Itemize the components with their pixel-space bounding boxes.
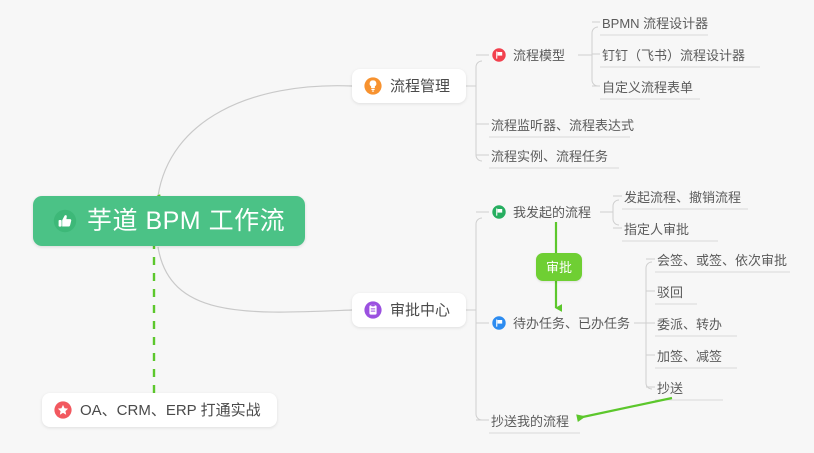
leaf-dingtalk-designer[interactable]: 钉钉（飞书）流程设计器 bbox=[602, 43, 749, 67]
leaf-label-custom-form: 自定义流程表单 bbox=[602, 81, 693, 94]
mindmap-canvas: 芋道 BPM 工作流 流程管理 流程模型 BPMN 流程设计器 钉钉（飞书）流程 bbox=[0, 0, 814, 453]
leaf-delegate-transfer[interactable]: 委派、转办 bbox=[657, 312, 726, 336]
leaf-instance-task[interactable]: 流程实例、流程任务 bbox=[491, 144, 612, 168]
node-todo-done-tasks[interactable]: 待办任务、已办任务 bbox=[492, 311, 634, 335]
leaf-label-assignee-approval: 指定人审批 bbox=[624, 223, 689, 236]
footer-node-label: OA、CRM、ERP 打通实战 bbox=[80, 403, 261, 418]
thumbs-up-icon bbox=[53, 209, 77, 233]
leaf-label-delegate-transfer: 委派、转办 bbox=[657, 318, 722, 331]
node-label-my-initiated: 我发起的流程 bbox=[513, 206, 591, 219]
link-pm-bracket bbox=[476, 61, 482, 161]
flag-red-icon bbox=[492, 48, 506, 62]
leaf-label-reject: 驳回 bbox=[657, 286, 683, 299]
node-label-todo-done-tasks: 待办任务、已办任务 bbox=[513, 317, 630, 330]
leaf-label-countersign: 会签、或签、依次审批 bbox=[657, 254, 787, 267]
leaf-countersign[interactable]: 会签、或签、依次审批 bbox=[657, 248, 791, 272]
star-icon bbox=[54, 401, 72, 419]
footer-node-oa-crm-erp[interactable]: OA、CRM、ERP 打通实战 bbox=[42, 393, 277, 427]
link-model-bracket bbox=[592, 27, 598, 86]
leaf-custom-form[interactable]: 自定义流程表单 bbox=[602, 75, 697, 99]
lightbulb-icon bbox=[364, 77, 382, 95]
root-label: 芋道 BPM 工作流 bbox=[87, 209, 285, 234]
clipboard-icon bbox=[364, 301, 382, 319]
branch-node-process-management[interactable]: 流程管理 bbox=[352, 69, 466, 103]
branch-label-approval-center: 审批中心 bbox=[390, 303, 450, 318]
arrow-cc-to-my-cc bbox=[578, 398, 672, 418]
flag-green-icon bbox=[492, 205, 506, 219]
flag-blue-icon bbox=[492, 316, 506, 330]
leaf-label-dingtalk-designer: 钉钉（飞书）流程设计器 bbox=[602, 49, 745, 62]
branch-label-process-management: 流程管理 bbox=[390, 79, 450, 94]
node-label-process-model: 流程模型 bbox=[513, 49, 565, 62]
leaf-label-add-remove-sign: 加签、减签 bbox=[657, 350, 722, 363]
leaf-cc[interactable]: 抄送 bbox=[657, 376, 687, 400]
link-mine-bracket bbox=[613, 200, 619, 225]
leaf-label-instance-task: 流程实例、流程任务 bbox=[491, 150, 608, 163]
link-root-to-approval-center bbox=[158, 247, 352, 312]
annotation-badge-approval: 审批 bbox=[536, 253, 582, 281]
leaf-label-start-cancel-process: 发起流程、撤销流程 bbox=[624, 191, 741, 204]
leaf-bpmn-designer[interactable]: BPMN 流程设计器 bbox=[602, 11, 712, 35]
leaf-start-cancel-process[interactable]: 发起流程、撤销流程 bbox=[624, 185, 745, 209]
link-todo-bracket bbox=[646, 262, 652, 389]
leaf-label-cc: 抄送 bbox=[657, 382, 683, 395]
branch-node-approval-center[interactable]: 审批中心 bbox=[352, 293, 466, 327]
leaf-add-remove-sign[interactable]: 加签、减签 bbox=[657, 344, 726, 368]
root-node[interactable]: 芋道 BPM 工作流 bbox=[33, 196, 305, 246]
link-ac-bracket bbox=[476, 218, 482, 420]
leaf-cc-to-me[interactable]: 抄送我的流程 bbox=[491, 409, 573, 433]
leaf-label-cc-to-me: 抄送我的流程 bbox=[491, 415, 569, 428]
leaf-listener-expression[interactable]: 流程监听器、流程表达式 bbox=[491, 113, 638, 137]
leaf-reject[interactable]: 驳回 bbox=[657, 280, 687, 304]
leaf-label-listener-expression: 流程监听器、流程表达式 bbox=[491, 119, 634, 132]
link-root-to-process-management bbox=[158, 86, 352, 196]
leaf-assignee-approval[interactable]: 指定人审批 bbox=[624, 217, 693, 241]
node-process-model[interactable]: 流程模型 bbox=[492, 43, 569, 67]
annotation-badge-approval-label: 审批 bbox=[546, 261, 572, 274]
node-my-initiated[interactable]: 我发起的流程 bbox=[492, 200, 595, 224]
leaf-label-bpmn-designer: BPMN 流程设计器 bbox=[602, 17, 708, 30]
